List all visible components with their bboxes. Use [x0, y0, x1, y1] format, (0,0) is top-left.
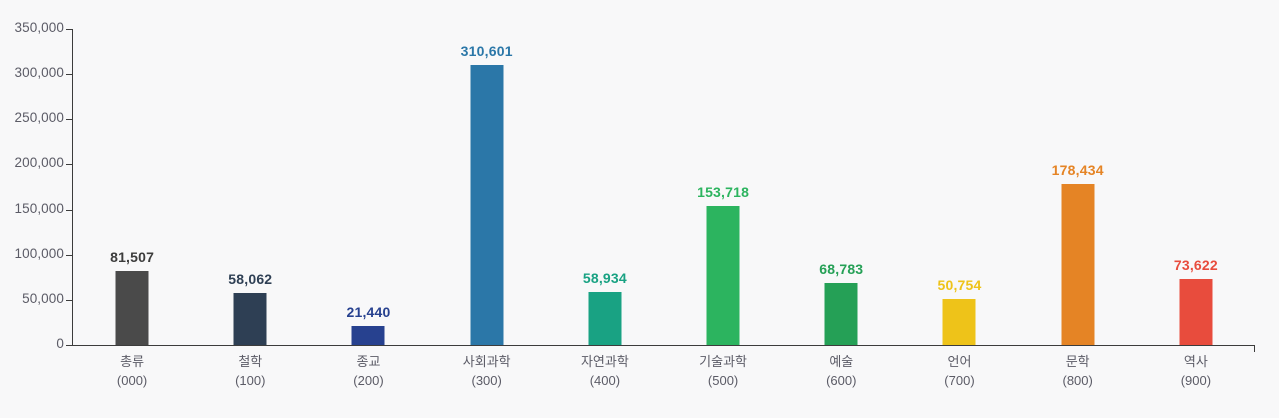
- x-axis-category-label: 자연과학(400): [546, 352, 664, 390]
- category-code: (300): [428, 371, 546, 390]
- category-name: 언어: [900, 352, 1018, 371]
- bar[interactable]: [1061, 184, 1094, 345]
- plot-area: 81,50758,06221,440310,60158,934153,71868…: [73, 29, 1255, 345]
- bar-value-label: 178,434: [1052, 162, 1104, 178]
- category-name: 자연과학: [546, 352, 664, 371]
- y-axis-tick-label: 100,000: [2, 246, 64, 261]
- bar-value-label: 68,783: [819, 261, 863, 277]
- bar-group[interactable]: 73,622: [1137, 29, 1255, 345]
- y-axis-tick-label: 50,000: [2, 291, 64, 306]
- bar-value-label: 58,934: [583, 270, 627, 286]
- bar-value-label: 73,622: [1174, 257, 1218, 273]
- bar[interactable]: [588, 292, 621, 345]
- y-axis-tick-label: 250,000: [2, 110, 64, 125]
- bar[interactable]: [943, 299, 976, 345]
- bar[interactable]: [234, 293, 267, 345]
- bar-value-label: 58,062: [228, 271, 272, 287]
- y-axis-tick-mark: [66, 119, 72, 120]
- y-axis-tick-label: 300,000: [2, 65, 64, 80]
- x-axis-category-label: 예술(600): [782, 352, 900, 390]
- category-code: (100): [191, 371, 309, 390]
- bar-value-label: 50,754: [937, 277, 981, 293]
- bar-group[interactable]: 178,434: [1019, 29, 1137, 345]
- y-axis-tick-label: 200,000: [2, 155, 64, 170]
- x-axis-category-label: 기술과학(500): [664, 352, 782, 390]
- bar-group[interactable]: 58,934: [546, 29, 664, 345]
- bar-group[interactable]: 81,507: [73, 29, 191, 345]
- y-axis-tick-mark: [66, 210, 72, 211]
- x-axis-category-label: 역사(900): [1137, 352, 1255, 390]
- category-name: 문학: [1019, 352, 1137, 371]
- y-axis-tick-mark: [66, 29, 72, 30]
- category-code: (900): [1137, 371, 1255, 390]
- bar-group[interactable]: 153,718: [664, 29, 782, 345]
- category-name: 예술: [782, 352, 900, 371]
- bar-group[interactable]: 310,601: [428, 29, 546, 345]
- category-code: (200): [309, 371, 427, 390]
- bar-value-label: 81,507: [110, 249, 154, 265]
- bar-group[interactable]: 58,062: [191, 29, 309, 345]
- x-axis-category-label: 사회과학(300): [428, 352, 546, 390]
- bar-value-label: 310,601: [461, 43, 513, 59]
- bar[interactable]: [352, 326, 385, 345]
- category-code: (500): [664, 371, 782, 390]
- category-code: (700): [900, 371, 1018, 390]
- category-code: (400): [546, 371, 664, 390]
- bar-value-label: 153,718: [697, 184, 749, 200]
- y-axis-tick-label: 150,000: [2, 201, 64, 216]
- category-code: (000): [73, 371, 191, 390]
- bar-value-label: 21,440: [346, 304, 390, 320]
- x-axis-category-label: 종교(200): [309, 352, 427, 390]
- x-axis-category-label: 언어(700): [900, 352, 1018, 390]
- x-axis-category-label: 문학(800): [1019, 352, 1137, 390]
- bar[interactable]: [470, 65, 503, 345]
- bar-group[interactable]: 50,754: [900, 29, 1018, 345]
- bar[interactable]: [116, 271, 149, 345]
- y-axis-tick-label: 0: [2, 336, 64, 351]
- category-name: 역사: [1137, 352, 1255, 371]
- category-name: 기술과학: [664, 352, 782, 371]
- bar[interactable]: [707, 206, 740, 345]
- bar-chart: 050,000100,000150,000200,000250,000300,0…: [0, 0, 1279, 418]
- y-axis-tick-mark: [66, 255, 72, 256]
- bar[interactable]: [825, 283, 858, 345]
- category-name: 사회과학: [428, 352, 546, 371]
- category-code: (600): [782, 371, 900, 390]
- bar[interactable]: [1179, 279, 1212, 345]
- category-code: (800): [1019, 371, 1137, 390]
- y-axis-tick-mark: [66, 74, 72, 75]
- x-axis-category-label: 철학(100): [191, 352, 309, 390]
- x-axis-line: [72, 345, 1255, 346]
- bar-group[interactable]: 68,783: [782, 29, 900, 345]
- category-name: 총류: [73, 352, 191, 371]
- y-axis-tick-label: 350,000: [2, 20, 64, 35]
- x-axis-category-label: 총류(000): [73, 352, 191, 390]
- category-name: 종교: [309, 352, 427, 371]
- x-axis-end-tick: [1254, 345, 1255, 352]
- category-name: 철학: [191, 352, 309, 371]
- bar-group[interactable]: 21,440: [309, 29, 427, 345]
- y-axis-tick-mark: [66, 300, 72, 301]
- y-axis-tick-mark: [66, 164, 72, 165]
